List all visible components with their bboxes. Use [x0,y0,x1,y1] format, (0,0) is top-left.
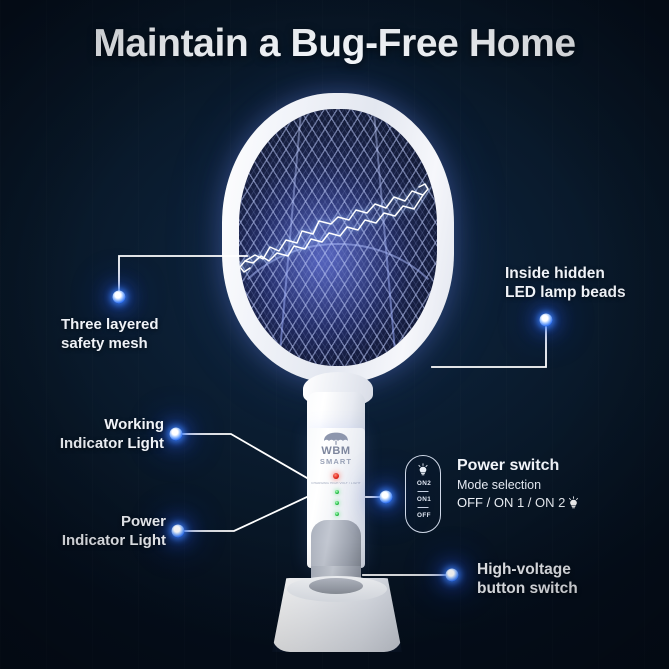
switch-position-on1: ON1 [406,496,442,503]
power-switch-modes-text: OFF / ON 1 / ON 2 [457,495,565,510]
callout-line-1: Working [0,416,164,435]
callout-dot-led-beads[interactable] [540,314,553,327]
callout-line-1: High-voltage [477,560,578,579]
callout-label-safety-mesh: Three layered safety mesh [61,316,159,353]
callout-dot-safety-mesh[interactable] [113,291,126,304]
connector-safety-mesh [119,256,247,297]
callout-label-working-light: Working Indicator Light [0,416,164,453]
callout-line-1: Three layered [61,316,159,335]
connector-power-light [178,497,307,531]
power-switch-title: Power switch [457,457,559,475]
callout-line-2: Indicator Light [0,532,166,551]
connector-led-beads [432,320,546,367]
callout-dot-high-voltage[interactable] [446,569,459,582]
power-switch-modes: OFF / ON 1 / ON 2 [457,495,580,510]
callout-line-1: Power [0,513,166,532]
callout-line-2: LED lamp beads [505,283,626,302]
lamp-icon [417,463,430,476]
callout-label-power-light: Power Indicator Light [0,513,166,550]
page-title: Maintain a Bug-Free Home [0,22,669,66]
callout-line-2: Indicator Light [0,435,164,454]
callout-dot-working-light[interactable] [170,428,183,441]
power-switch-subtitle: Mode selection [457,478,541,492]
switch-position-off: OFF [406,512,442,519]
switch-dash [418,491,429,492]
callout-label-led-beads: Inside hidden LED lamp beads [505,264,626,302]
lamp-icon [567,496,580,509]
callout-line-1: Inside hidden [505,264,626,283]
callout-line-2: button switch [477,579,578,598]
switch-position-on2: ON2 [406,480,442,487]
callout-dot-power-light[interactable] [172,525,185,538]
power-switch-diagram[interactable]: ON2 ON1 OFF [405,455,441,533]
callout-dot-power-switch[interactable] [380,491,393,504]
infographic-canvas: WBM SMART CHARGING HIGH VOLT / LIGHT [0,0,669,669]
callout-label-high-voltage: High-voltage button switch [477,560,578,598]
callout-line-2: safety mesh [61,335,159,354]
switch-dash [418,507,429,508]
connector-working-light [176,434,307,478]
